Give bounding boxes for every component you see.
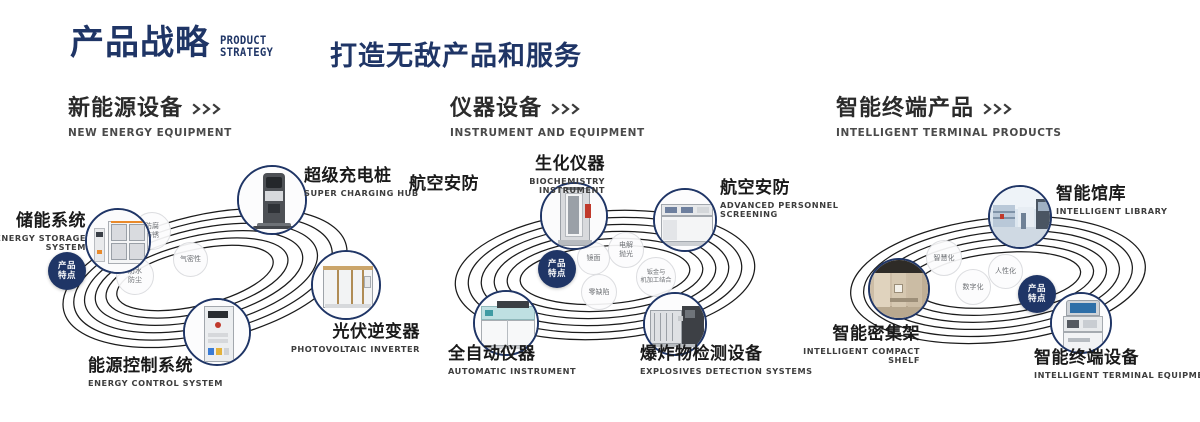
triple-chevron-right-icon bbox=[983, 103, 1015, 115]
label-en: INTELLIGENT TERMINAL EQUIPMENT bbox=[1034, 371, 1200, 380]
label-cn: 智能密集架 bbox=[790, 326, 920, 344]
label-intelligent-compact-shelf: 智能密集架 INTELLIGENT COMPACT SHELF bbox=[790, 326, 920, 365]
center-bubble-line1: 产品 bbox=[548, 259, 566, 269]
label-en: INSTRUMENT bbox=[460, 186, 605, 195]
label-en: INTELLIGENT LIBRARY bbox=[1056, 207, 1168, 216]
feature-bubble-intelligent: 智慧化 bbox=[926, 240, 962, 276]
label-en: AUTOMATIC INSTRUMENT bbox=[448, 367, 576, 376]
section-title-cn: 仪器设备 bbox=[450, 96, 645, 122]
section-title-en: NEW ENERGY EQUIPMENT bbox=[68, 127, 232, 139]
feature-line: 人性化 bbox=[995, 267, 1016, 276]
label-en: ENERGY STORAGE bbox=[0, 234, 86, 243]
feature-bubble-airtightness: 气密性 bbox=[173, 242, 208, 277]
feature-line: 抛光 bbox=[619, 250, 633, 259]
feature-line: 钣金与 bbox=[647, 269, 666, 277]
section-title-intelligent-terminal: 智能终端产品 INTELLIGENT TERMINAL PRODUCTS bbox=[836, 96, 1062, 139]
node-energy-control-system[interactable] bbox=[183, 298, 251, 366]
section-title-cn: 智能终端产品 bbox=[836, 96, 1062, 122]
page-title-cn: 产品战略 bbox=[70, 26, 210, 60]
label-cn: 爆炸物检测设备 bbox=[640, 346, 813, 364]
section-title-en: INSTRUMENT AND EQUIPMENT bbox=[450, 127, 645, 139]
center-bubble-product-features: 产品 特点 bbox=[48, 252, 86, 290]
kiosk-terminal-icon bbox=[1052, 294, 1110, 352]
page-header: 产品战略 PRODUCT STRATEGY bbox=[70, 26, 278, 60]
library-room-icon bbox=[990, 187, 1050, 247]
pv-inverter-icon bbox=[313, 252, 379, 318]
center-bubble-line1: 产品 bbox=[58, 261, 76, 271]
section-title-en: INTELLIGENT TERMINAL PRODUCTS bbox=[836, 127, 1062, 139]
page-subtitle: 打造无敌产品和服务 bbox=[330, 34, 582, 73]
feature-line: 机加工结合 bbox=[641, 277, 672, 285]
label-cn: 智能馆库 bbox=[1056, 186, 1168, 204]
center-bubble-line2: 特点 bbox=[1028, 294, 1046, 304]
center-bubble-product-features: 产品 特点 bbox=[538, 250, 576, 288]
section-title-cn-text: 新能源设备 bbox=[68, 96, 183, 122]
label-en: EXPLOSIVES DETECTION SYSTEMS bbox=[640, 367, 813, 376]
cluster-intelligent-terminal: 智慧化 数字化 人性化 产品 特点 bbox=[800, 150, 1200, 400]
feature-bubble-digital: 数字化 bbox=[955, 269, 991, 305]
triple-chevron-right-icon bbox=[551, 103, 583, 115]
feature-line: 零缺陷 bbox=[589, 288, 610, 297]
node-intelligent-terminal-equipment[interactable] bbox=[1050, 292, 1112, 354]
label-intelligent-terminal-equipment: 智能终端设备 INTELLIGENT TERMINAL EQUIPMENT bbox=[1034, 350, 1200, 379]
label-en: ENERGY CONTROL SYSTEM bbox=[88, 379, 223, 388]
feature-line: 镜面 bbox=[587, 254, 601, 263]
triple-chevron-right-icon bbox=[192, 103, 224, 115]
node-intelligent-compact-shelf[interactable] bbox=[868, 258, 930, 320]
cluster-new-energy: 产品 特点 户外 防腐 防锈 防水 防尘 气密性 bbox=[0, 150, 420, 400]
label-en: SHELF bbox=[790, 356, 920, 365]
feature-bubble-sheetmetal-machining: 钣金与 机加工结合 bbox=[636, 257, 676, 297]
cluster-instrument: 产品 特点 镜面 电解 抛光 零缺陷 钣金与 机加工结合 bbox=[400, 150, 820, 400]
feature-line: 数字化 bbox=[963, 283, 984, 292]
label-en: SYSTEM bbox=[0, 243, 86, 252]
node-energy-storage-system[interactable] bbox=[85, 208, 151, 274]
charging-pile-icon bbox=[239, 167, 305, 233]
section-title-new-energy: 新能源设备 NEW ENERGY EQUIPMENT bbox=[68, 96, 232, 139]
label-cn: 储能系统 bbox=[0, 213, 86, 231]
feature-line: 气密性 bbox=[180, 255, 201, 264]
label-explosives-detection-systems: 爆炸物检测设备 EXPLOSIVES DETECTION SYSTEMS bbox=[640, 346, 813, 375]
section-title-cn-text: 智能终端产品 bbox=[836, 96, 974, 122]
node-super-charging-hub[interactable] bbox=[237, 165, 307, 235]
energy-storage-cabinet-icon bbox=[87, 210, 149, 272]
node-intelligent-library[interactable] bbox=[988, 185, 1052, 249]
label-cn: 智能终端设备 bbox=[1034, 350, 1200, 368]
page-title-en: PRODUCT STRATEGY bbox=[220, 34, 273, 58]
label-cn: 全自动仪器 bbox=[448, 346, 576, 364]
section-title-cn-text: 仪器设备 bbox=[450, 96, 542, 122]
center-bubble-line2: 特点 bbox=[58, 271, 76, 281]
label-biochemistry-instrument: 生化仪器 BIOCHEMISTRY INSTRUMENT bbox=[460, 156, 605, 195]
node-advanced-personnel-screening[interactable] bbox=[653, 188, 717, 252]
section-title-cn: 新能源设备 bbox=[68, 96, 232, 122]
label-energy-storage-system: 储能系统 ENERGY STORAGE SYSTEM bbox=[0, 213, 86, 252]
feature-line: 防尘 bbox=[128, 276, 142, 285]
label-photovoltaic-inverter: 光伏逆变器 PHOTOVOLTAIC INVERTER bbox=[230, 324, 420, 353]
center-bubble-line1: 产品 bbox=[1028, 284, 1046, 294]
label-energy-control-system: 能源控制系统 ENERGY CONTROL SYSTEM bbox=[88, 358, 223, 387]
feature-bubble-humanized: 人性化 bbox=[988, 254, 1023, 289]
compact-shelf-icon bbox=[870, 260, 928, 318]
label-cn: 生化仪器 bbox=[460, 156, 605, 174]
feature-bubble-zero-defect: 零缺陷 bbox=[581, 274, 617, 310]
label-cn: 光伏逆变器 bbox=[230, 324, 420, 342]
label-en: PHOTOVOLTAIC INVERTER bbox=[230, 345, 420, 354]
feature-line: 智慧化 bbox=[934, 254, 955, 263]
control-cabinet-icon bbox=[185, 300, 249, 364]
center-bubble-product-features: 产品 特点 bbox=[1018, 275, 1056, 313]
label-cn: 能源控制系统 bbox=[88, 358, 223, 376]
label-intelligent-library: 智能馆库 INTELLIGENT LIBRARY bbox=[1056, 186, 1168, 215]
label-en: INTELLIGENT COMPACT bbox=[790, 347, 920, 356]
feature-bubble-electropolishing: 电解 抛光 bbox=[608, 232, 644, 268]
center-bubble-line2: 特点 bbox=[548, 269, 566, 279]
label-en: BIOCHEMISTRY bbox=[460, 177, 605, 186]
section-title-instrument: 仪器设备 INSTRUMENT AND EQUIPMENT bbox=[450, 96, 645, 139]
screening-machine-icon bbox=[655, 190, 715, 250]
label-automatic-instrument: 全自动仪器 AUTOMATIC INSTRUMENT bbox=[448, 346, 576, 375]
node-photovoltaic-inverter[interactable] bbox=[311, 250, 381, 320]
feature-line: 电解 bbox=[619, 241, 633, 250]
page-title-en-line2: STRATEGY bbox=[220, 46, 273, 58]
